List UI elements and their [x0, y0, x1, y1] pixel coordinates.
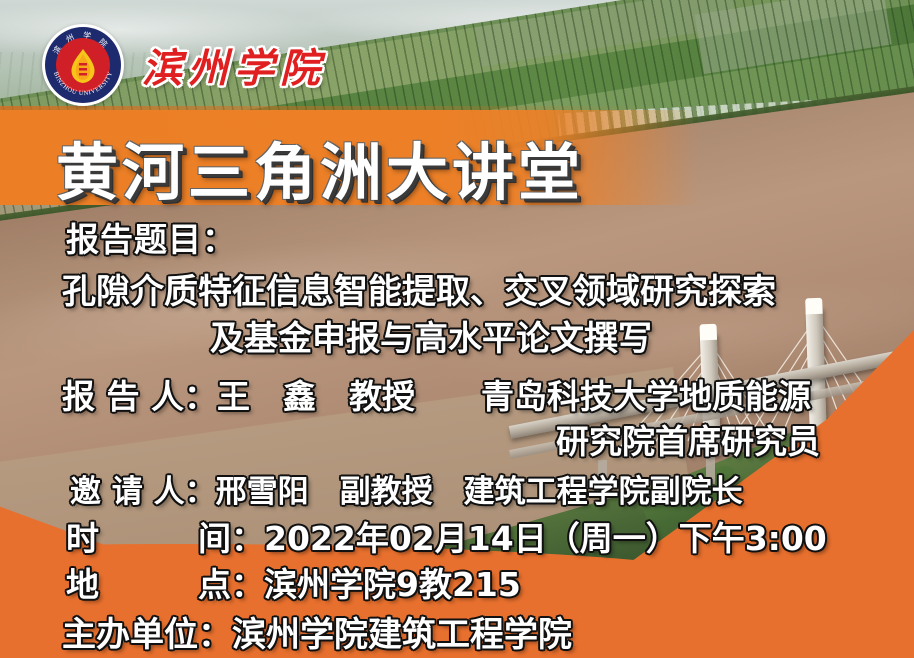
topic-line-2: 及基金申报与高水平论文撰写 — [210, 311, 652, 360]
inviter-line: 邀 请 人：邢雪阳 副教授 建筑工程学院副院长 — [70, 466, 743, 511]
lecture-poster: 滨 州 学 院 BINZHOU UNIVERSITY 滨州学院 黄河三角洲大讲堂… — [0, 0, 914, 658]
host-line: 主办单位：滨州学院建筑工程学院 — [62, 607, 572, 656]
place-line: 地 点：滨州学院9教215 — [66, 558, 521, 606]
speaker-line-1: 报 告 人：王 鑫 教授 青岛科技大学地质能源 — [62, 370, 811, 418]
topic-label: 报告题目： — [66, 213, 236, 261]
speaker-line-2: 研究院首席研究员 — [556, 415, 820, 463]
topic-line-1: 孔隙介质特征信息智能提取、交叉领域研究探索 — [62, 264, 776, 313]
poster-body: 报告题目： 孔隙介质特征信息智能提取、交叉领域研究探索 及基金申报与高水平论文撰… — [0, 0, 914, 658]
time-line: 时 间：2022年02月14日（周一）下午3:00 — [66, 512, 827, 560]
